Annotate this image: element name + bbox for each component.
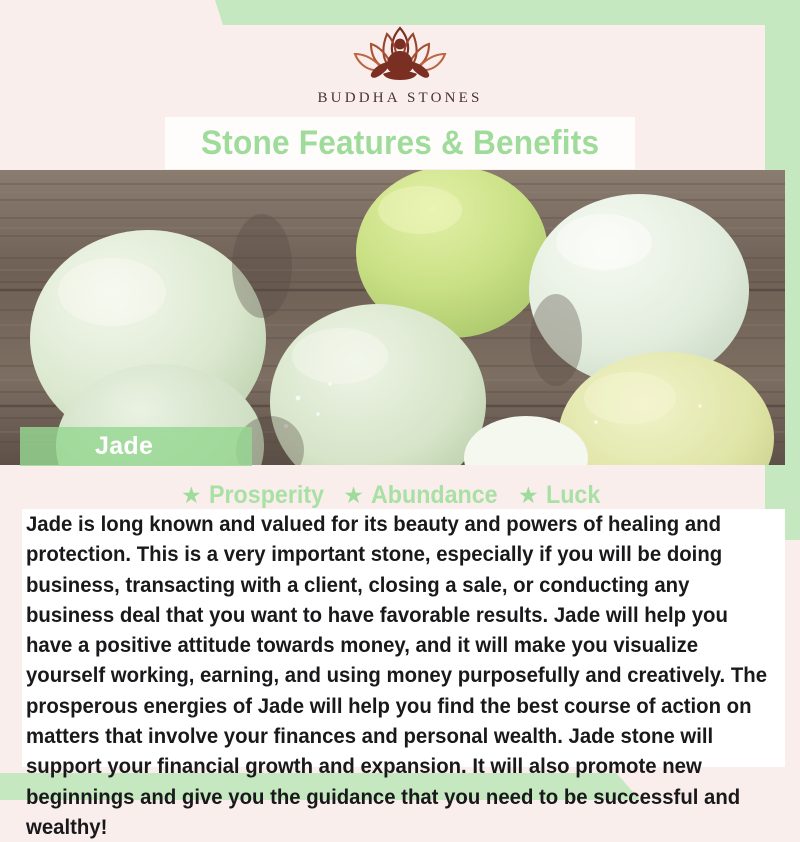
brand-logo-block: BUDDHA STONES bbox=[0, 22, 800, 117]
title-banner: Stone Features & Benefits bbox=[165, 117, 635, 169]
hero-stone-photo bbox=[0, 170, 785, 465]
lotus-meditation-icon bbox=[325, 22, 475, 84]
benefit-label: Luck bbox=[546, 481, 600, 510]
hero-photo-graphic bbox=[0, 170, 785, 465]
benefit-item-luck: ★ Luck bbox=[518, 481, 604, 510]
benefits-row: ★ Prosperity ★ Abundance ★ Luck bbox=[0, 478, 785, 512]
page-title: Stone Features & Benefits bbox=[201, 124, 599, 163]
stone-name-label: Jade bbox=[95, 432, 153, 461]
benefit-label: Abundance bbox=[371, 481, 498, 510]
benefit-label: Prosperity bbox=[209, 481, 324, 510]
benefit-item-abundance: ★ Abundance bbox=[343, 481, 507, 510]
star-icon: ★ bbox=[343, 484, 364, 507]
description-panel: Jade is long known and valued for its be… bbox=[22, 509, 785, 767]
star-icon: ★ bbox=[518, 484, 539, 507]
brand-name: BUDDHA STONES bbox=[317, 90, 482, 107]
stone-name-bar: Jade bbox=[20, 427, 252, 466]
benefit-item-prosperity: ★ Prosperity bbox=[181, 481, 332, 510]
star-icon: ★ bbox=[181, 484, 202, 507]
description-text: Jade is long known and valued for its be… bbox=[26, 509, 779, 842]
